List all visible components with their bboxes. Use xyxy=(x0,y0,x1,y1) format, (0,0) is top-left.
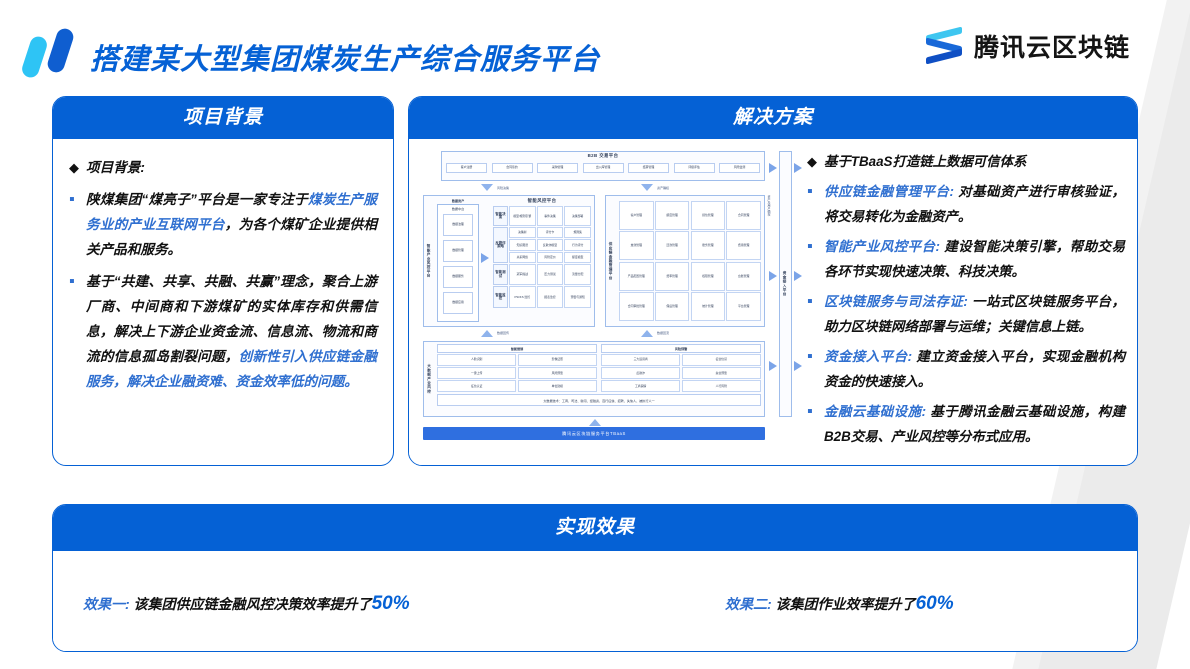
risk-cell: PSI/KS 监控 xyxy=(509,286,536,308)
data-mid-label: 数据中台 xyxy=(437,206,479,211)
finance-cell: 客户管理 xyxy=(619,201,654,230)
logo-bar-light xyxy=(20,34,49,79)
risk-cell: 模型/规则引擎 xyxy=(509,206,536,226)
data-asset-cell: 数据服务 xyxy=(443,266,473,288)
solution-list: ◆基于TBaaS打造链上数据可信体系▪供应链金融管理平台: 对基础资产进行审核验… xyxy=(807,145,1129,463)
risk-cell: 额度模型 xyxy=(564,252,591,263)
flow-label-left-up: 数据回传 xyxy=(497,331,509,335)
risk-row-grid: 模型/规则引擎事件决策决策部署 xyxy=(509,206,591,226)
dot-bullet-icon: ▪ xyxy=(807,344,824,395)
b2b-cell: 风险监测 xyxy=(719,163,760,173)
finance-grid: 客户管理额度管理授信管理合同管理放款管理还款管理账务管理费用管理产品配置管理费率… xyxy=(619,201,761,321)
b2b-cell: 采购管理 xyxy=(537,163,578,173)
bullet-text: 基于“共建、共享、共融、共赢”理念，聚合上游厂商、中间商和下游煤矿的实体库存和供… xyxy=(86,269,377,394)
dot-bullet-icon: ▪ xyxy=(807,289,824,340)
finance-cell: 费用管理 xyxy=(726,231,761,260)
finance-cell: 平台管理 xyxy=(726,292,761,321)
highlight-run: 金融云基础设施: xyxy=(824,404,926,419)
bullet-item: ▪区块链服务与司法存证: 一站式区块链服务平台，助力区块链网络部署与运维；关键信… xyxy=(807,289,1125,340)
risk-row-head: 智能决策 xyxy=(493,206,508,226)
bigdata-vlabel: 大数据产业风控 xyxy=(425,345,435,413)
capital-arrow-1 xyxy=(794,163,802,173)
bullet-item: ▪金融云基础设施: 基于腾讯金融云基础设施，构建B2B交易、产业风控等分布式应用… xyxy=(807,399,1125,450)
risk-cell: 流量分配 xyxy=(564,264,591,285)
bullet-text: 项目背景: xyxy=(86,155,377,180)
flow-label-side-right: 资产及用户确权 xyxy=(767,195,771,216)
highlight-run: 区块链服务与司法存证: xyxy=(824,294,968,309)
effect-row: 效果一: 该集团供应链金融风控决策效率提升了50%效果二: 该集团作业效率提升了… xyxy=(53,551,1137,651)
capital-arrow-3 xyxy=(794,361,802,371)
b2b-platform-title: B2B 交易平台 xyxy=(441,153,765,159)
capital-access-vlabel: 资金接入平台 xyxy=(780,155,791,413)
finance-platform-vlabel: 供应链金融管理平台 xyxy=(607,201,616,321)
risk-cell: 行为评分 xyxy=(564,239,591,250)
finance-cell: 授信管理 xyxy=(691,201,726,230)
finance-cell: 还款管理 xyxy=(655,231,690,260)
slide-header: 搭建某大型集团煤炭生产综合服务平台 腾讯云区块链 xyxy=(0,0,1190,92)
bigdata-grid: 人脸识别影像证照一键上传风险预警征信认证单位建模 xyxy=(437,354,597,392)
flow-arrow-up-right xyxy=(641,330,653,337)
finance-cell: 保后管理 xyxy=(655,292,690,321)
bigdata-section-title: 智能营销 xyxy=(437,344,597,353)
data-asset-cell: 数据管理 xyxy=(443,240,473,262)
effect-value: 60% xyxy=(916,593,954,614)
effect-item: 效果二: 该集团作业效率提升了60% xyxy=(725,593,954,615)
bullet-item: ◆项目背景: xyxy=(69,155,377,180)
plain-run: 陕煤集团“煤亮子”平台是一家专注于 xyxy=(86,192,308,207)
tbaas-bar: 腾讯云区块链服务平台TBaaS xyxy=(423,427,765,440)
slide-root: 搭建某大型集团煤炭生产综合服务平台 腾讯云区块链 项目背景 ◆项目背景:▪陕煤集… xyxy=(0,0,1190,669)
capital-arrow-2 xyxy=(794,271,802,281)
risk-row-head: 反欺诈策略 xyxy=(493,227,508,263)
risk-cell: 评分卡 xyxy=(537,227,564,238)
bullet-item: ▪智能产业风控平台: 建设智能决策引擎，帮助交易各环节实现快速决策、科技决策。 xyxy=(807,234,1125,285)
bullet-item: ▪基于“共建、共享、共融、共赢”理念，聚合上游厂商、中间商和下游煤矿的实体库存和… xyxy=(69,269,377,394)
finance-cell: 台账管理 xyxy=(726,262,761,291)
bigdata-cell: 单位建模 xyxy=(518,380,597,392)
flow-arrow-up-left xyxy=(481,330,493,337)
risk-cell: 决策树 xyxy=(509,227,536,238)
solution-title: 解决方案 xyxy=(409,97,1137,139)
dot-bullet-icon: ▪ xyxy=(69,269,86,394)
brand-lockup: 腾讯云区块链 xyxy=(926,28,1130,64)
b2b-cell: 合同签约 xyxy=(492,163,533,173)
page-title: 搭建某大型集团煤炭生产综合服务平台 xyxy=(90,36,600,78)
diamond-bullet-icon: ◆ xyxy=(807,149,824,175)
finance-cell: 合同管理 xyxy=(726,201,761,230)
project-background-title: 项目背景 xyxy=(53,97,393,139)
dot-bullet-icon: ▪ xyxy=(807,399,824,450)
project-background-list: ◆项目背景:▪陕煤集团“煤亮子”平台是一家专注于煤炭生产服务业的产业互联网平台，… xyxy=(53,139,393,409)
risk-row-head: 智能监控 xyxy=(493,286,508,308)
finance-cell: 统计管理 xyxy=(691,292,726,321)
bigdata-footer: 大数据技术：工商、司法、新闻、经融资、百行征信、招聘、失信人、被执行人一 xyxy=(437,394,761,406)
b2b-cell: 出入库管理 xyxy=(583,163,624,173)
bullet-item: ▪陕煤集团“煤亮子”平台是一家专注于煤炭生产服务业的产业互联网平台，为各个煤矿企… xyxy=(69,187,377,262)
logo-bar-dark xyxy=(45,26,75,74)
bullet-text: 智能产业风控平台: 建设智能决策引擎，帮助交易各环节实现快速决策、科技决策。 xyxy=(824,234,1125,285)
tencent-cloud-icon xyxy=(926,29,962,63)
finance-cell: 费率管理 xyxy=(655,262,690,291)
risk-cell: 风险定价 xyxy=(537,252,564,263)
effect-label: 效果一: xyxy=(83,596,130,612)
chain-arrow-3 xyxy=(769,361,777,371)
bigdata-cell: 征信认证 xyxy=(437,380,516,392)
plain-run: 项目背景: xyxy=(86,160,145,175)
b2b-cell: 评级评估 xyxy=(674,163,715,173)
data-asset-title: 数据资产 xyxy=(437,198,479,203)
risk-row-grid: PSI/KS 监控报表监控预警与通知 xyxy=(509,286,591,308)
risk-cell: 冠军挑战 xyxy=(509,264,536,285)
b2b-cell: 结算管理 xyxy=(628,163,669,173)
bigdata-cell: 工商舆情 xyxy=(601,380,680,392)
risk-platform-vlabel: 智能产业风控平台 xyxy=(425,203,434,319)
finance-cell: 额度管理 xyxy=(655,201,690,230)
data-asset-cell: 数据应用 xyxy=(443,292,473,314)
diamond-bullet-icon: ◆ xyxy=(69,155,86,180)
finance-cell: 合同审批管理 xyxy=(619,292,654,321)
bullet-text: 资金接入平台: 建立资金接入平台，实现金融机构资金的快速接入。 xyxy=(824,344,1125,395)
effect-label: 效果二: xyxy=(725,596,772,612)
dot-bullet-icon: ▪ xyxy=(69,187,86,262)
effect-text: 该集团供应链金融风控决策效率提升了 xyxy=(130,596,372,612)
solution-body: B2B 交易平台客户注册合同签约采购管理出入库管理结算管理评级评估风险监测风险决… xyxy=(409,139,1137,465)
finance-cell: 权限管理 xyxy=(691,262,726,291)
risk-inner-title: 智能风控平台 xyxy=(493,198,591,204)
flow-arrow-down-left xyxy=(481,184,493,191)
bullet-item: ▪资金接入平台: 建立资金接入平台，实现金融机构资金的快速接入。 xyxy=(807,344,1125,395)
finance-cell: 放款管理 xyxy=(619,231,654,260)
risk-cell: 反欺诈模型 xyxy=(537,239,564,250)
effect-text: 该集团作业效率提升了 xyxy=(772,596,916,612)
bigdata-cell: 三大运营商 xyxy=(601,354,680,366)
bullet-item: ◆基于TBaaS打造链上数据可信体系 xyxy=(807,149,1125,175)
flow-label-right-up: 数据回流 xyxy=(657,331,669,335)
dot-bullet-icon: ▪ xyxy=(807,234,824,285)
risk-cell: 事件决策 xyxy=(537,206,564,226)
bullet-text: 区块链服务与司法存证: 一站式区块链服务平台，助力区块链网络部署与运维；关键信息… xyxy=(824,289,1125,340)
bigdata-cell: 风险预警 xyxy=(518,367,597,379)
flow-arrow-down-right xyxy=(641,184,653,191)
solution-card: 解决方案 B2B 交易平台客户注册合同签约采购管理出入库管理结算管理评级评估风险… xyxy=(408,96,1138,466)
risk-row-head: 智能测试 xyxy=(493,264,508,285)
bullet-item: ▪供应链金融管理平台: 对基础资产进行审核验证，将交易转化为金融资产。 xyxy=(807,179,1125,230)
risk-cell: 知识图谱 xyxy=(509,239,536,250)
dot-bullet-icon: ▪ xyxy=(807,179,824,230)
chain-arrow-2 xyxy=(769,271,777,281)
bigdata-grid: 三大运营商征信信贷反欺诈失信预警工商舆情人行风险 xyxy=(601,354,761,392)
risk-cell: 压力测试 xyxy=(537,264,564,285)
effect-title: 实现效果 xyxy=(53,505,1137,551)
tbaas-arrow-up xyxy=(589,419,601,426)
project-background-card: 项目背景 ◆项目背景:▪陕煤集团“煤亮子”平台是一家专注于煤炭生产服务业的产业互… xyxy=(52,96,394,466)
deck-logo-icon xyxy=(16,26,82,76)
brand-name: 腾讯云区块链 xyxy=(974,28,1130,64)
effect-item: 效果一: 该集团供应链金融风控决策效率提升了50% xyxy=(83,593,410,615)
data-asset-cell: 数据治理 xyxy=(443,214,473,236)
bigdata-cell: 失信预警 xyxy=(682,367,761,379)
effect-value: 50% xyxy=(372,593,410,614)
flow-label-right-down: 资产确权 xyxy=(657,186,669,190)
bigdata-cell: 反欺诈 xyxy=(601,367,680,379)
architecture-diagram: B2B 交易平台客户注册合同签约采购管理出入库管理结算管理评级评估风险监测风险决… xyxy=(423,151,809,463)
risk-cell: 关系网络 xyxy=(509,252,536,263)
bigdata-cell: 人行风险 xyxy=(682,380,761,392)
risk-cell: 报表监控 xyxy=(537,286,564,308)
chain-arrow-1 xyxy=(769,163,777,173)
risk-row-grid: 冠军挑战压力测试流量分配 xyxy=(509,264,591,285)
flow-label-left-down: 风险决策 xyxy=(497,186,509,190)
risk-inner-arrow xyxy=(481,253,489,263)
bigdata-cell: 人脸识别 xyxy=(437,354,516,366)
bullet-text: 供应链金融管理平台: 对基础资产进行审核验证，将交易转化为金融资产。 xyxy=(824,179,1125,230)
effect-card: 实现效果 效果一: 该集团供应链金融风控决策效率提升了50%效果二: 该集团作业… xyxy=(52,504,1138,652)
b2b-cell: 客户注册 xyxy=(446,163,487,173)
risk-cell: 规则集 xyxy=(564,227,591,238)
bullet-text: 陕煤集团“煤亮子”平台是一家专注于煤炭生产服务业的产业互联网平台，为各个煤矿企业… xyxy=(86,187,377,262)
bullet-text: 基于TBaaS打造链上数据可信体系 xyxy=(824,149,1125,175)
highlight-run: 智能产业风控平台: xyxy=(824,239,940,254)
bigdata-section-title: 风险预警 xyxy=(601,344,761,353)
risk-cell: 决策部署 xyxy=(564,206,591,226)
risk-cell: 预警与通知 xyxy=(564,286,591,308)
plain-run: 基于TBaaS打造链上数据可信体系 xyxy=(824,154,1026,169)
bigdata-cell: 一键上传 xyxy=(437,367,516,379)
bigdata-cell: 征信信贷 xyxy=(682,354,761,366)
risk-row-grid: 决策树评分卡规则集知识图谱反欺诈模型行为评分关系网络风险定价额度模型 xyxy=(509,227,591,263)
finance-cell: 产品配置管理 xyxy=(619,262,654,291)
highlight-run: 资金接入平台: xyxy=(824,349,912,364)
bigdata-cell: 影像证照 xyxy=(518,354,597,366)
bullet-text: 金融云基础设施: 基于腾讯金融云基础设施，构建B2B交易、产业风控等分布式应用。 xyxy=(824,399,1125,450)
finance-cell: 账务管理 xyxy=(691,231,726,260)
highlight-run: 供应链金融管理平台: xyxy=(824,184,954,199)
